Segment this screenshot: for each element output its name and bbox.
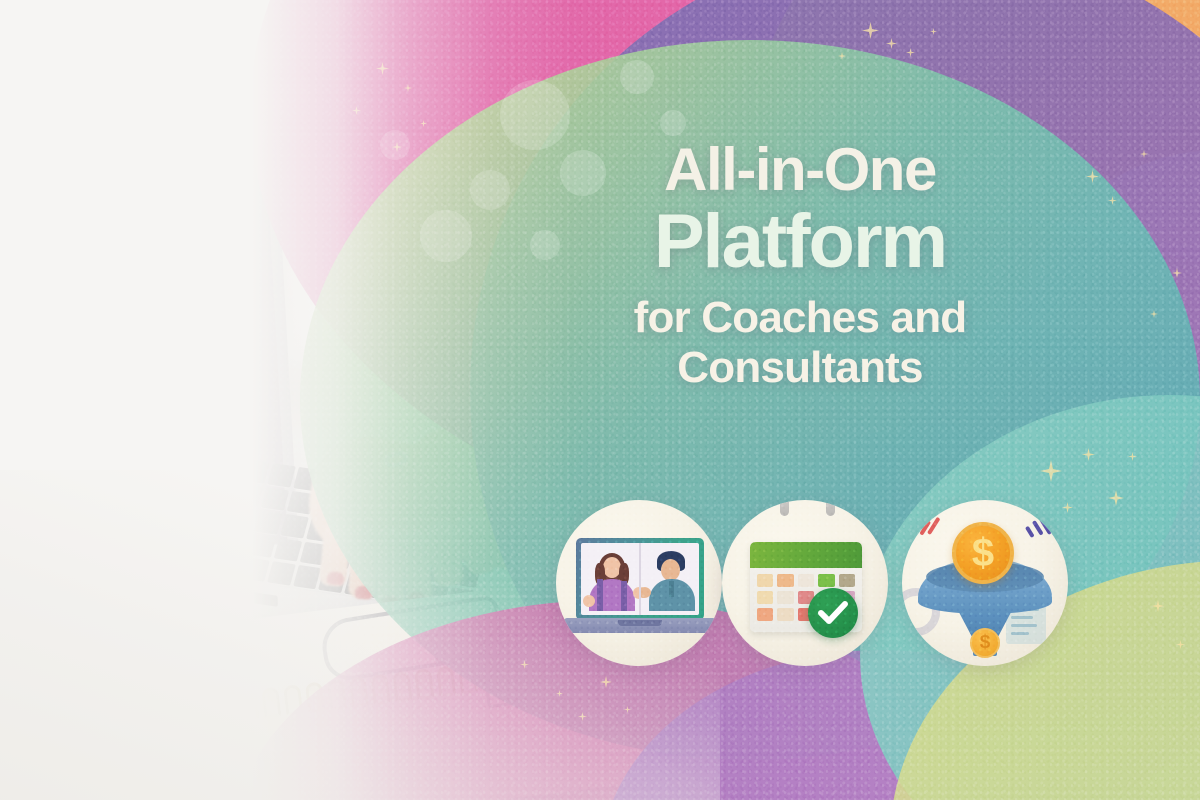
calendar-day-cell bbox=[818, 608, 834, 621]
calendar-day-cell bbox=[757, 591, 773, 604]
document-icon bbox=[1006, 596, 1046, 644]
feature-icon-row: $ $ bbox=[0, 0, 1200, 800]
calendar-day-cell bbox=[818, 574, 834, 587]
calendar-day-cell bbox=[839, 608, 855, 621]
calendar-day-cell bbox=[777, 574, 793, 587]
calendar-day-cell bbox=[798, 608, 814, 621]
calendar-day-cell bbox=[777, 591, 793, 604]
check-badge bbox=[808, 588, 858, 638]
calendar-day-cell bbox=[757, 608, 773, 621]
calendar-day-cell bbox=[798, 591, 814, 604]
calendar-day-cell bbox=[839, 591, 855, 604]
calendar-day-cell bbox=[818, 591, 834, 604]
video-tile-woman bbox=[581, 543, 639, 615]
video-tile-man bbox=[639, 543, 699, 615]
feature-circle-video-call[interactable] bbox=[556, 500, 722, 666]
calendar-day-cell bbox=[798, 574, 814, 587]
dollar-coin-large: $ bbox=[952, 522, 1014, 584]
calendar-day-cell bbox=[757, 574, 773, 587]
calendar-day-cell bbox=[777, 608, 793, 621]
magnifier-icon bbox=[902, 588, 940, 636]
marketing-banner: All-in-One Platform for Coaches and Cons… bbox=[0, 0, 1200, 800]
feature-circle-scheduling[interactable] bbox=[722, 500, 888, 666]
dollar-coin-small: $ bbox=[970, 628, 1000, 658]
calendar-day-cell bbox=[839, 574, 855, 587]
feature-circle-sales-funnel[interactable]: $ $ bbox=[902, 500, 1068, 666]
